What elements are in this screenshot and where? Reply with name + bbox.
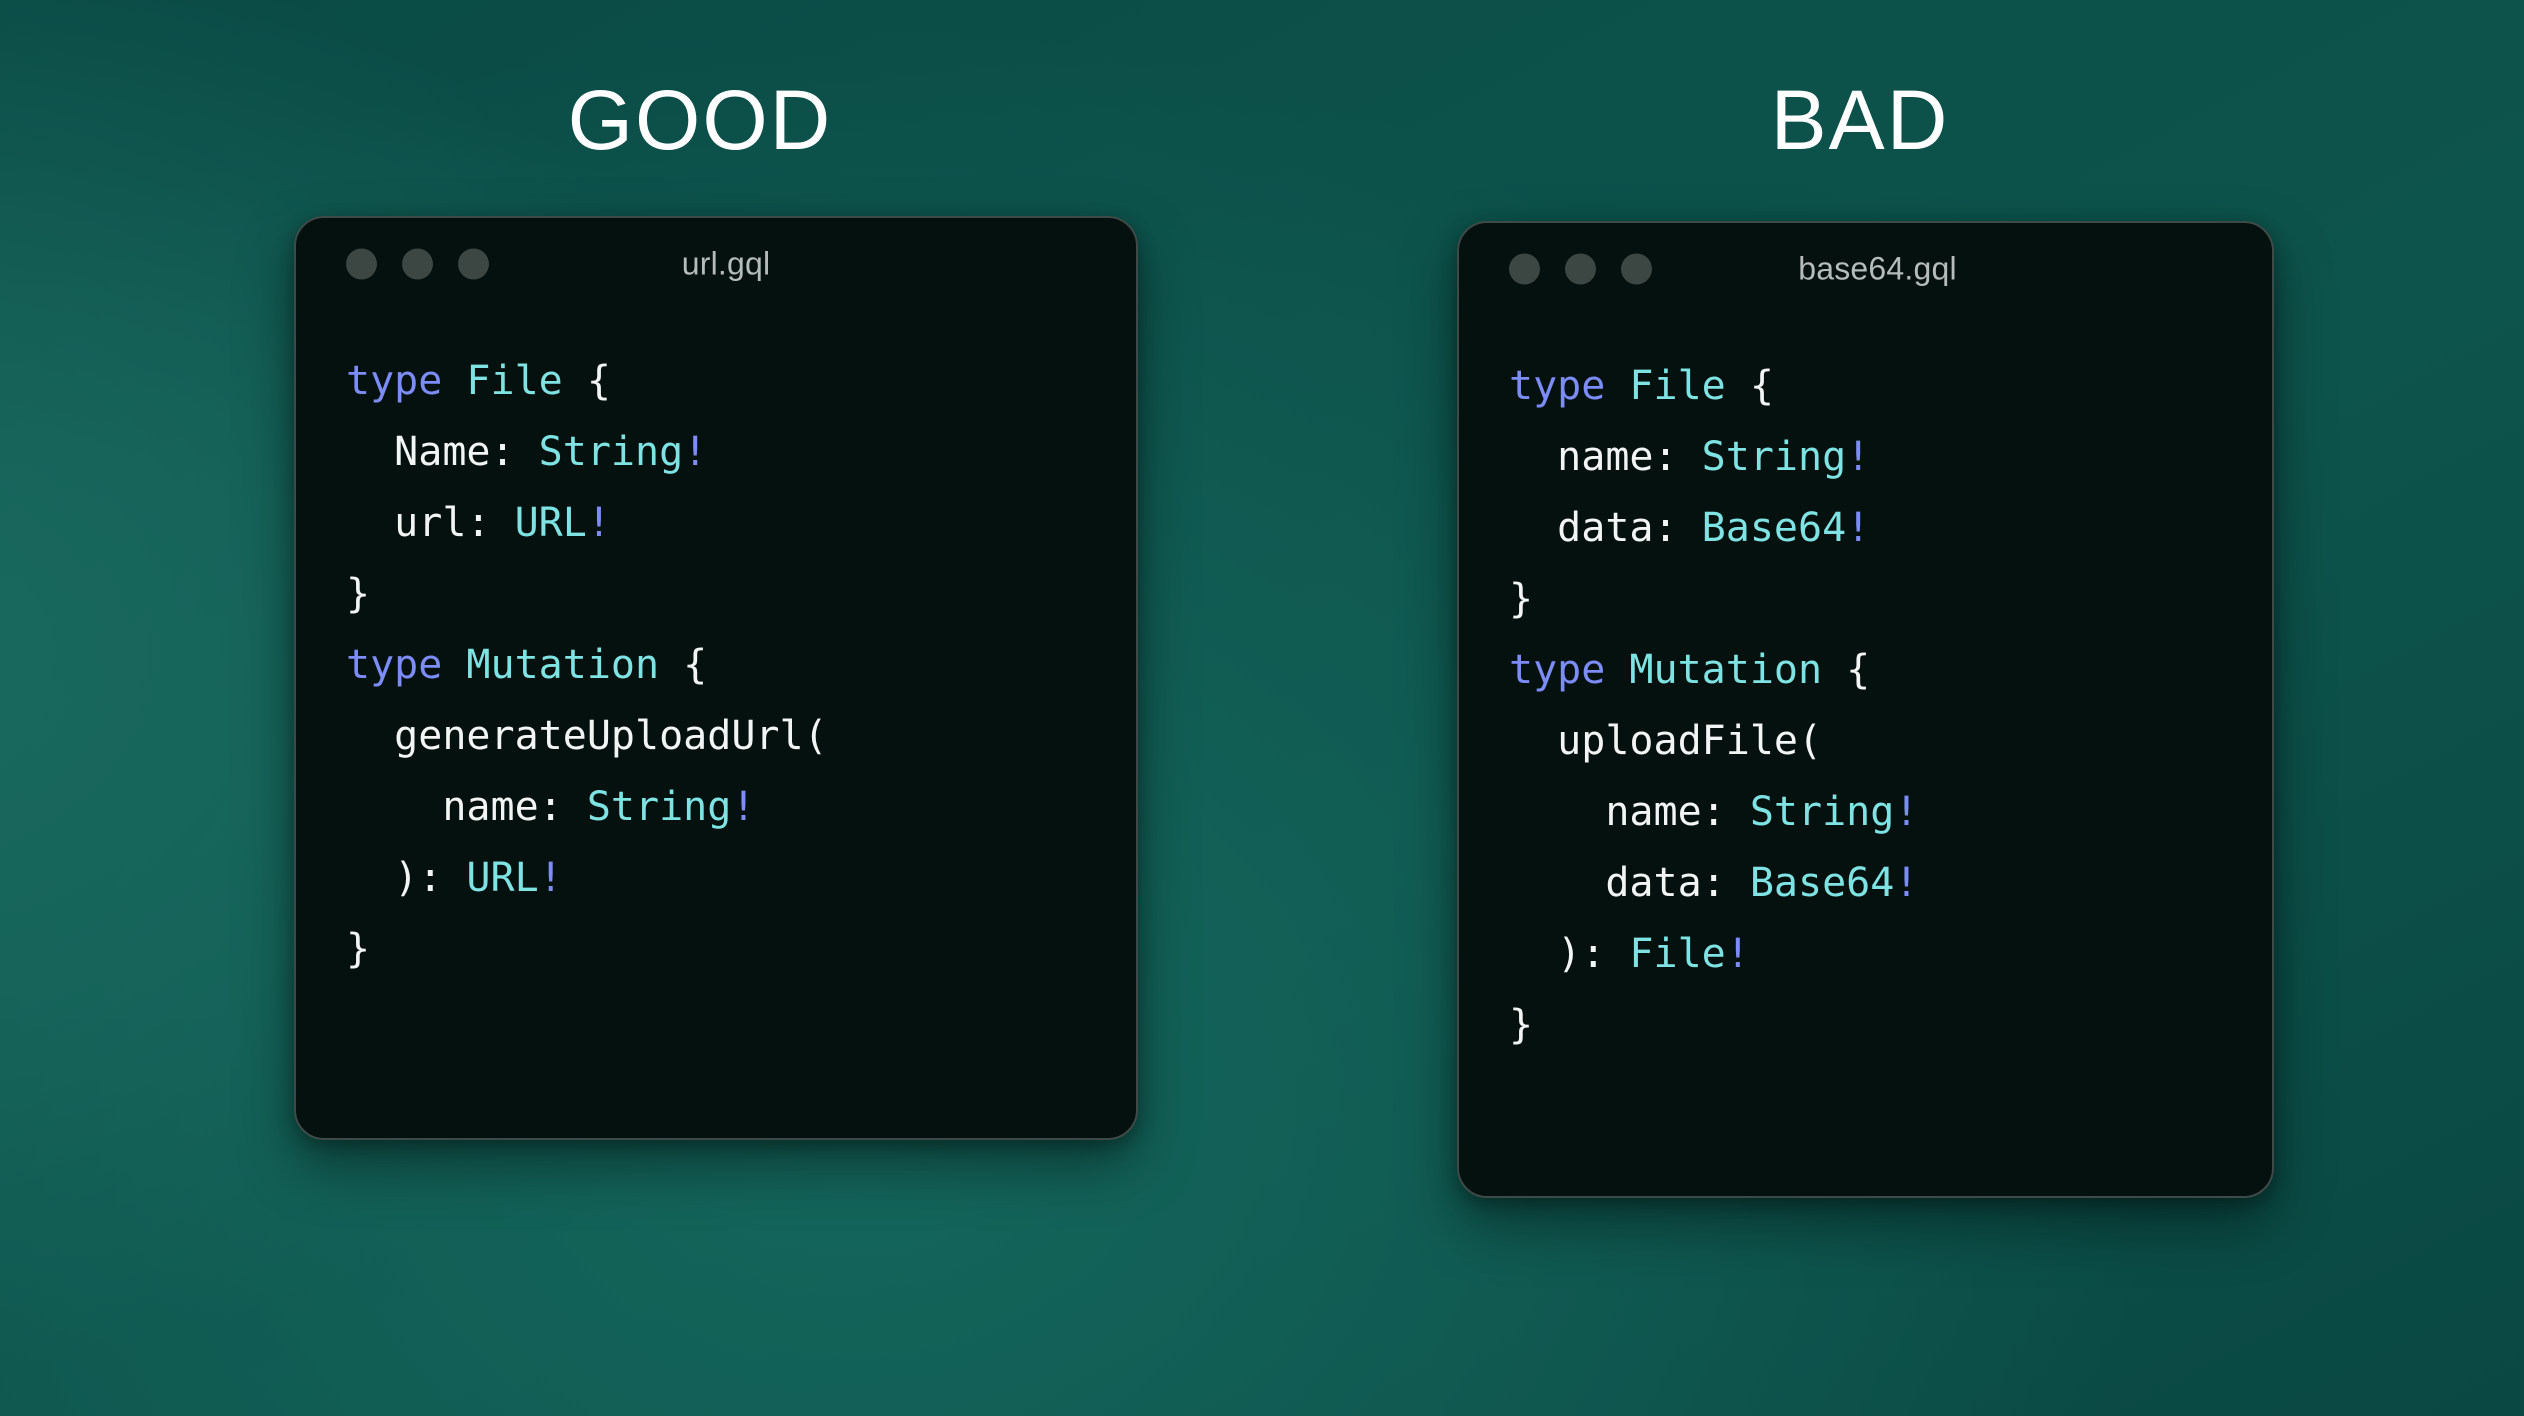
code-token-bang: ! xyxy=(587,500,611,546)
code-token-type: File xyxy=(1629,363,1725,409)
code-line: generateUploadUrl( xyxy=(346,701,1136,772)
code-token-field: data: xyxy=(1509,860,1750,906)
code-token-field: url: xyxy=(346,500,515,546)
code-token-type: String xyxy=(1702,434,1847,480)
code-line: ): File! xyxy=(1509,919,2272,990)
code-token-kw: type xyxy=(1509,363,1605,409)
code-line: } xyxy=(346,559,1136,630)
code-token-field: uploadFile( xyxy=(1509,718,1822,764)
code-token-kw: type xyxy=(1509,647,1605,693)
code-token-type: URL xyxy=(515,500,587,546)
code-token-type: String xyxy=(1750,789,1895,835)
code-token-bang: ! xyxy=(731,784,755,830)
filename-label-good: url.gql xyxy=(296,246,1136,283)
code-token-type: File xyxy=(466,358,562,404)
code-token-bang: ! xyxy=(1846,505,1870,551)
code-card-titlebar-bad: base64.gql xyxy=(1459,223,2272,315)
code-line: name: String! xyxy=(1509,777,2272,848)
code-token-field: generateUploadUrl( xyxy=(346,713,828,759)
code-line: type Mutation { xyxy=(346,630,1136,701)
code-line: uploadFile( xyxy=(1509,706,2272,777)
code-token-type: Mutation xyxy=(466,642,659,688)
code-line: type Mutation { xyxy=(1509,635,2272,706)
panel-heading-bad: BAD xyxy=(1560,78,2160,162)
code-line: url: URL! xyxy=(346,488,1136,559)
code-card-good: url.gql type File { Name: String! url: U… xyxy=(294,216,1138,1140)
code-card-bad: base64.gql type File { name: String! dat… xyxy=(1457,221,2274,1198)
comparison-canvas: GOOD url.gql type File { Name: String! u… xyxy=(0,0,2524,1416)
code-line: } xyxy=(1509,564,2272,635)
code-line: ): URL! xyxy=(346,843,1136,914)
code-token-type: URL xyxy=(466,855,538,901)
panel-heading-good: GOOD xyxy=(400,78,1000,162)
code-token-type: Mutation xyxy=(1629,647,1822,693)
code-line: Name: String! xyxy=(346,417,1136,488)
code-token-punct xyxy=(442,642,466,688)
code-token-kw: type xyxy=(346,642,442,688)
code-token-field: name: xyxy=(1509,434,1702,480)
code-token-punct: } xyxy=(346,571,370,617)
code-token-field: Name: xyxy=(346,429,539,475)
code-token-type: String xyxy=(587,784,732,830)
code-token-bang: ! xyxy=(1894,789,1918,835)
code-line: name: String! xyxy=(346,772,1136,843)
code-line: } xyxy=(1509,990,2272,1061)
code-token-punct xyxy=(1605,647,1629,693)
code-token-punct xyxy=(442,358,466,404)
code-token-punct: } xyxy=(346,926,370,972)
code-token-field: data: xyxy=(1509,505,1702,551)
code-token-punct: } xyxy=(1509,576,1533,622)
code-token-punct: { xyxy=(1726,363,1774,409)
code-line: } xyxy=(346,914,1136,985)
code-line: data: Base64! xyxy=(1509,848,2272,919)
code-token-kw: type xyxy=(346,358,442,404)
code-line: data: Base64! xyxy=(1509,493,2272,564)
code-token-punct xyxy=(1605,363,1629,409)
code-token-punct: { xyxy=(659,642,707,688)
code-token-field: ): xyxy=(1509,931,1629,977)
code-token-type: String xyxy=(539,429,684,475)
code-token-field: ): xyxy=(346,855,466,901)
code-token-field: name: xyxy=(346,784,587,830)
code-block-good: type File { Name: String! url: URL!}type… xyxy=(296,310,1136,985)
code-token-bang: ! xyxy=(539,855,563,901)
code-line: name: String! xyxy=(1509,422,2272,493)
code-token-type: Base64 xyxy=(1750,860,1895,906)
code-token-bang: ! xyxy=(683,429,707,475)
code-token-bang: ! xyxy=(1894,860,1918,906)
code-token-field: name: xyxy=(1509,789,1750,835)
code-token-bang: ! xyxy=(1846,434,1870,480)
code-token-bang: ! xyxy=(1726,931,1750,977)
code-token-punct: } xyxy=(1509,1002,1533,1048)
code-block-bad: type File { name: String! data: Base64!}… xyxy=(1459,315,2272,1061)
code-card-titlebar-good: url.gql xyxy=(296,218,1136,310)
code-token-type: File xyxy=(1629,931,1725,977)
code-token-punct: { xyxy=(563,358,611,404)
code-line: type File { xyxy=(346,346,1136,417)
code-token-punct: { xyxy=(1822,647,1870,693)
code-line: type File { xyxy=(1509,351,2272,422)
filename-label-bad: base64.gql xyxy=(1459,251,2272,288)
code-token-type: Base64 xyxy=(1702,505,1847,551)
